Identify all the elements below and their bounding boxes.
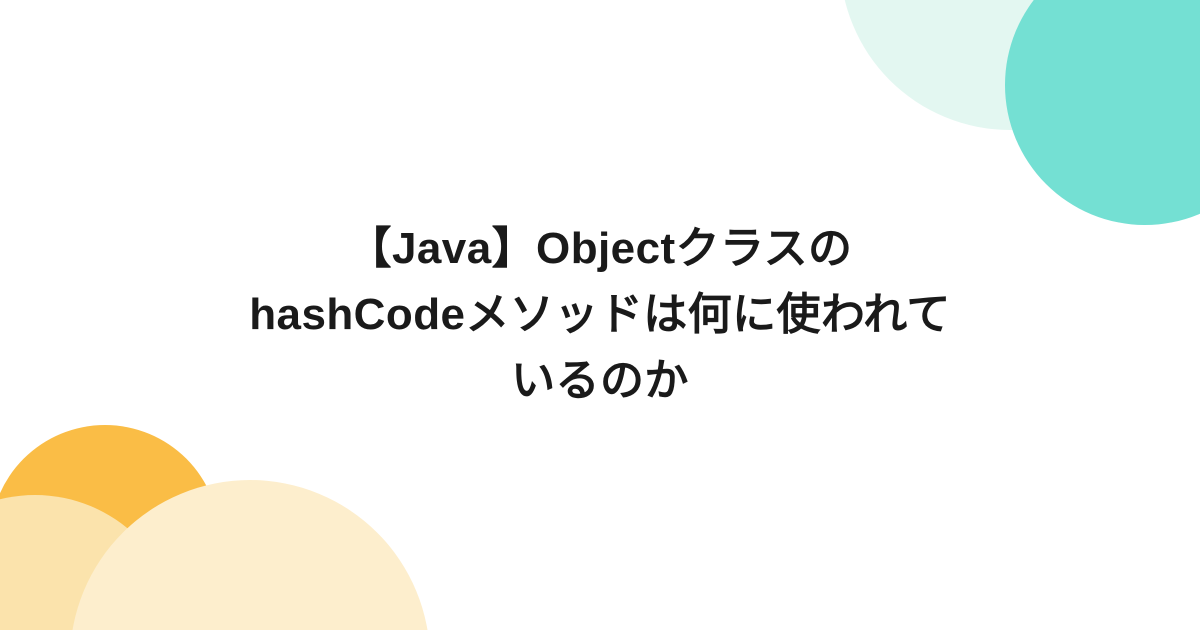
- og-card: 【Java】ObjectクラスのhashCodeメソッドは何に使われているのか: [0, 0, 1200, 630]
- page-title: 【Java】ObjectクラスのhashCodeメソッドは何に使われているのか: [240, 216, 960, 414]
- title-container: 【Java】ObjectクラスのhashCodeメソッドは何に使われているのか: [0, 0, 1200, 630]
